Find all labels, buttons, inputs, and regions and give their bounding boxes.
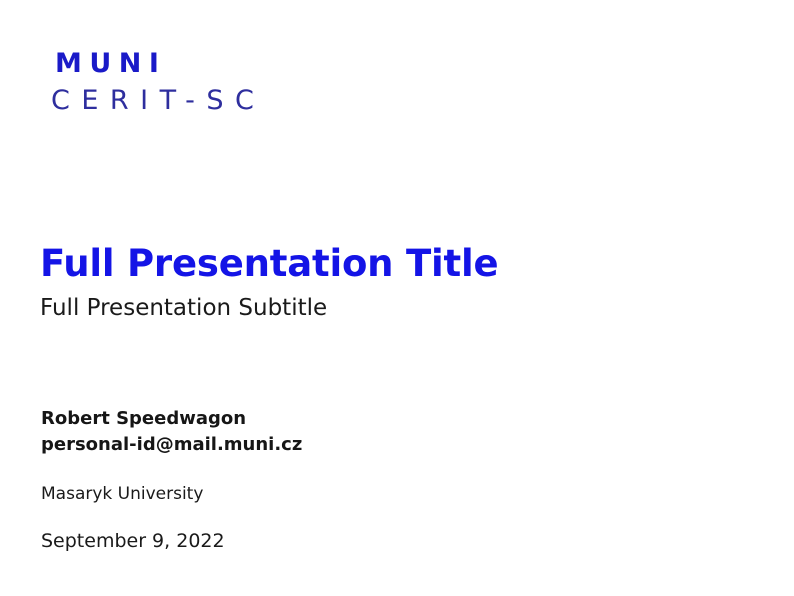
title-block: Full Presentation Title Full Presentatio… — [40, 243, 740, 323]
logo-muni-wordmark: MUNI — [50, 50, 265, 77]
author-name: Robert Speedwagon — [41, 406, 741, 432]
author-email: personal-id@mail.muni.cz — [41, 432, 741, 458]
page-title: Full Presentation Title — [40, 243, 740, 284]
presentation-date: September 9, 2022 — [41, 530, 741, 553]
logo-cerit-sc-wordmark: CERIT-SC — [50, 87, 265, 114]
muni-cerit-sc-logo: MUNI CERIT-SC — [50, 50, 265, 114]
author-institute: Masaryk University — [41, 484, 741, 504]
title-slide: MUNI CERIT-SC Full Presentation Title Fu… — [0, 0, 794, 596]
author-block: Robert Speedwagon personal-id@mail.muni.… — [41, 406, 741, 553]
page-subtitle: Full Presentation Subtitle — [40, 295, 740, 323]
